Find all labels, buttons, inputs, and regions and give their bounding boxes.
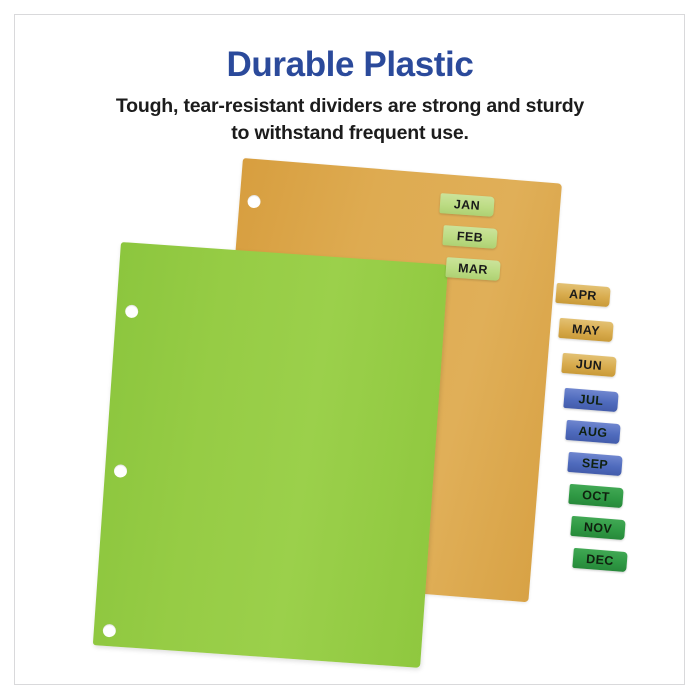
subtitle-line-1: Tough, tear-resistant dividers are stron…: [116, 95, 584, 117]
subtitle-line-2: to withstand frequent use.: [231, 122, 468, 144]
divider-tab-label: APR: [555, 283, 610, 307]
divider-tab-jul[interactable]: JUL: [563, 388, 618, 412]
divider-tab-label: JUN: [561, 353, 616, 377]
hole-punch: [247, 195, 261, 209]
hole-punch: [114, 464, 128, 478]
divider-tab-label: AUG: [565, 420, 620, 444]
divider-tab-label: OCT: [568, 484, 623, 508]
page-title: Durable Plastic: [0, 44, 700, 86]
divider-tab-label: FEB: [442, 225, 497, 249]
heading-block: Durable Plastic Tough, tear-resistant di…: [0, 44, 700, 147]
divider-tab-label: NOV: [570, 516, 625, 540]
divider-tab-nov[interactable]: NOV: [570, 516, 625, 540]
hole-punch: [102, 624, 116, 638]
divider-tab-label: SEP: [567, 452, 622, 476]
divider-tab-mar[interactable]: MAR: [445, 257, 500, 281]
page-subtitle: Tough, tear-resistant dividers are stron…: [0, 93, 700, 147]
divider-tab-may[interactable]: MAY: [558, 318, 613, 342]
product-photo: APR MAY JUN JUL AUG SEP OCT NOV: [0, 150, 700, 670]
divider-tab-oct[interactable]: OCT: [568, 484, 623, 508]
divider-tab-jun[interactable]: JUN: [561, 353, 616, 377]
divider-tab-apr[interactable]: APR: [555, 283, 610, 307]
divider-tab-label: DEC: [572, 548, 627, 572]
product-feature-card: Durable Plastic Tough, tear-resistant di…: [0, 0, 700, 700]
hole-punch: [125, 304, 139, 318]
divider-tab-aug[interactable]: AUG: [565, 420, 620, 444]
divider-tab-label: MAR: [445, 257, 500, 281]
divider-tab-dec[interactable]: DEC: [572, 548, 627, 572]
divider-tab-label: JUL: [563, 388, 618, 412]
divider-tab-sep[interactable]: SEP: [567, 452, 622, 476]
green-divider-sheet: [93, 242, 448, 668]
divider-tab-feb[interactable]: FEB: [442, 225, 497, 249]
divider-tab-label: JAN: [439, 193, 494, 217]
divider-tab-label: MAY: [558, 318, 613, 342]
divider-tab-jan[interactable]: JAN: [439, 193, 494, 217]
